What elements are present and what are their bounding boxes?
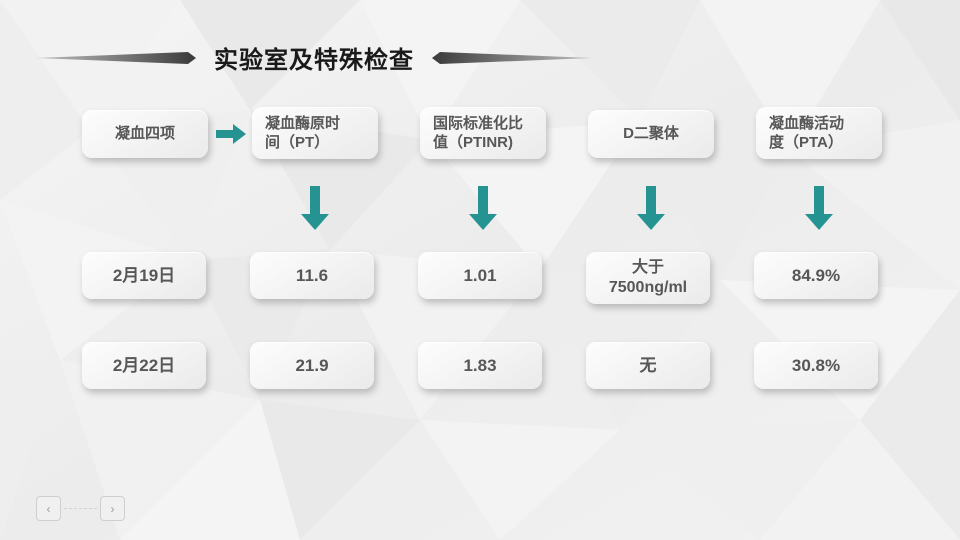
arrow-down-icon-d-dimer bbox=[637, 186, 665, 230]
cell-pta-row2[interactable]: 30.8% bbox=[754, 342, 878, 389]
cell-ptinr-row1[interactable]: 1.01 bbox=[418, 252, 542, 299]
cell-value: 84.9% bbox=[754, 265, 878, 287]
cell-d-dimer-row1[interactable]: 大于 7500ng/ml bbox=[586, 252, 710, 304]
chevron-right-icon: › bbox=[111, 502, 115, 516]
cell-value: 21.9 bbox=[250, 355, 374, 377]
cell-pt-row1[interactable]: 11.6 bbox=[250, 252, 374, 299]
slide-navigation: ‹ › bbox=[36, 496, 126, 522]
column-header-ptinr[interactable]: 国际标准化比 值（PTINR) bbox=[420, 107, 546, 159]
column-header-d-dimer-label: D二聚体 bbox=[588, 124, 714, 143]
table-row[interactable]: 2月22日 bbox=[82, 342, 206, 389]
row-date-label: 2月22日 bbox=[82, 355, 206, 377]
slide-canvas: 实验室及特殊检查 凝血四项 凝血酶原时 间（PT） 国际标准化比 值（PTINR… bbox=[0, 0, 960, 540]
cell-pt-row2[interactable]: 21.9 bbox=[250, 342, 374, 389]
cell-value: 大于 7500ng/ml bbox=[586, 258, 710, 299]
nav-dashed-connector bbox=[64, 508, 97, 509]
column-header-ptinr-label: 国际标准化比 值（PTINR) bbox=[433, 114, 546, 152]
cell-value: 30.8% bbox=[754, 355, 878, 377]
row-date-label: 2月19日 bbox=[82, 265, 206, 287]
arrow-down-icon-pt bbox=[301, 186, 329, 230]
page-title: 实验室及特殊检查 bbox=[196, 40, 432, 75]
table-row[interactable]: 2月19日 bbox=[82, 252, 206, 299]
column-header-pta-label: 凝血酶活动 度（PTA） bbox=[769, 114, 882, 152]
column-header-pt-label: 凝血酶原时 间（PT） bbox=[265, 114, 378, 152]
title-band bbox=[0, 36, 960, 80]
arrow-down-icon-ptinr bbox=[469, 186, 497, 230]
next-slide-button[interactable]: › bbox=[100, 496, 125, 521]
source-card-label: 凝血四项 bbox=[82, 124, 208, 143]
column-header-pt[interactable]: 凝血酶原时 间（PT） bbox=[252, 107, 378, 159]
cell-value: 无 bbox=[586, 355, 710, 377]
cell-ptinr-row2[interactable]: 1.83 bbox=[418, 342, 542, 389]
column-header-d-dimer[interactable]: D二聚体 bbox=[588, 110, 714, 158]
cell-d-dimer-row2[interactable]: 无 bbox=[586, 342, 710, 389]
title-decoration-left bbox=[36, 51, 196, 65]
cell-value: 1.01 bbox=[418, 265, 542, 287]
cell-value: 1.83 bbox=[418, 355, 542, 377]
arrow-down-icon-pta bbox=[805, 186, 833, 230]
arrow-right-icon bbox=[216, 124, 246, 144]
chevron-left-icon: ‹ bbox=[47, 502, 51, 516]
previous-slide-button[interactable]: ‹ bbox=[36, 496, 61, 521]
cell-value: 11.6 bbox=[250, 265, 374, 287]
column-header-pta[interactable]: 凝血酶活动 度（PTA） bbox=[756, 107, 882, 159]
cell-pta-row1[interactable]: 84.9% bbox=[754, 252, 878, 299]
title-decoration-right bbox=[432, 51, 592, 65]
source-card-coagulation-panel[interactable]: 凝血四项 bbox=[82, 110, 208, 158]
